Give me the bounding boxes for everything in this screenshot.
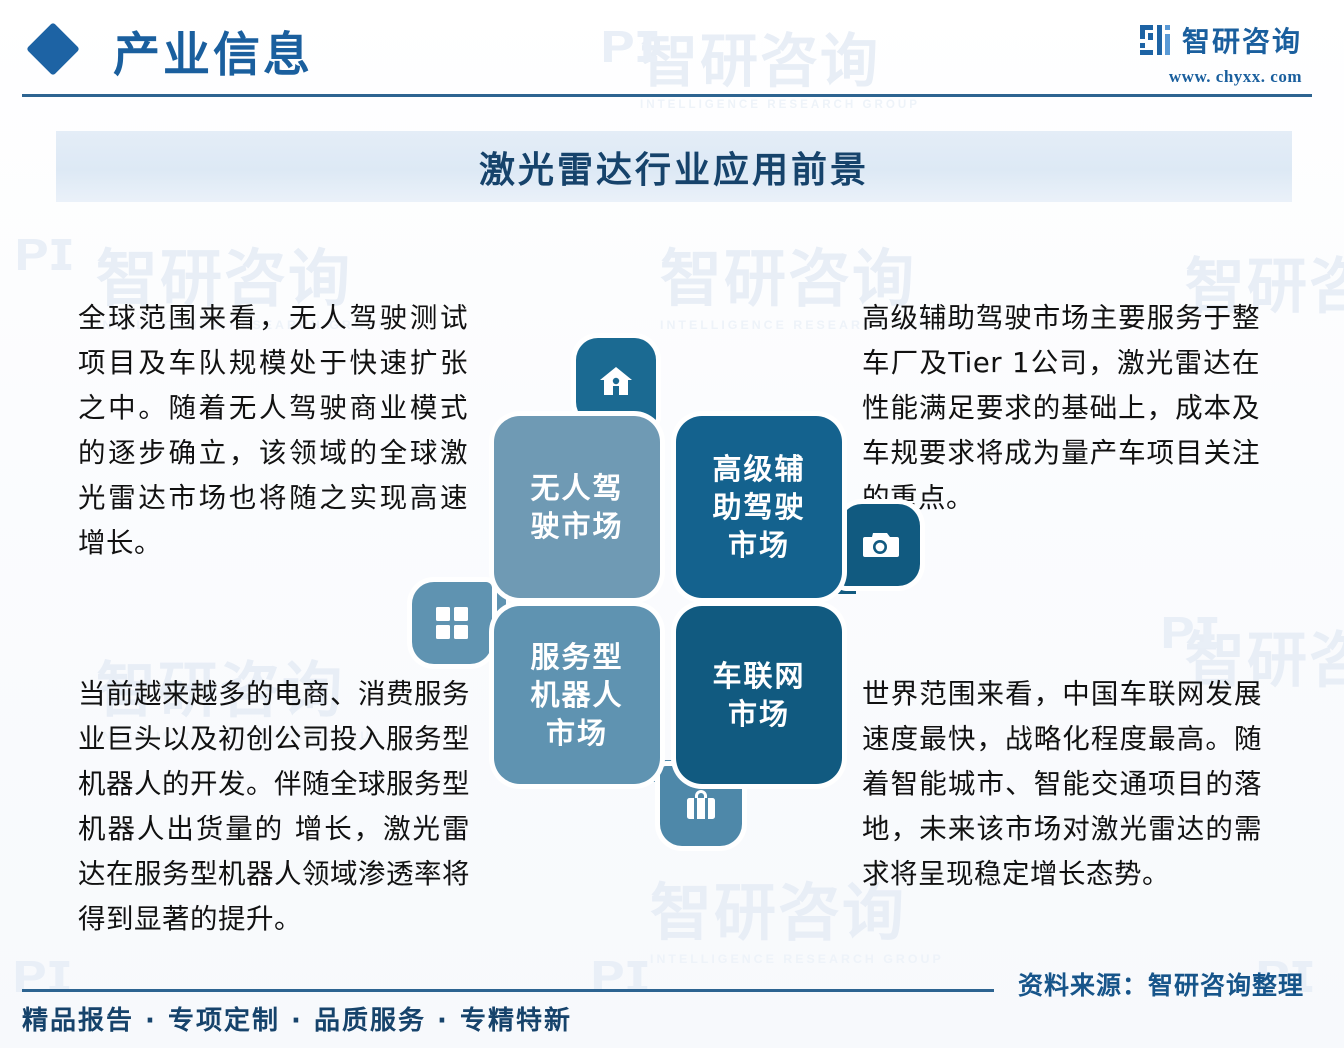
chyxx-logo-icon: [1139, 23, 1173, 57]
watermark-logo: ᴘɪ: [590, 944, 649, 1002]
watermark-logo: ᴘɪ: [14, 222, 73, 280]
tile-service-robot[interactable]: 服务型机器人市场: [494, 606, 660, 784]
brand-name: 智研咨询: [1182, 20, 1302, 60]
briefcase-icon: [683, 789, 719, 823]
page-header: Industry Information 产业信息: [0, 0, 1344, 108]
header-divider: [22, 94, 1312, 97]
tile-label: 无人驾驶市场: [524, 469, 629, 545]
brand-url: www. chyxx. com: [1139, 67, 1302, 87]
brand-block: 智研咨询 www. chyxx. com: [1139, 20, 1302, 87]
tile-label: 服务型机器人市场: [524, 638, 629, 752]
grid-icon: [435, 606, 469, 640]
header-title-cn: 产业信息: [113, 16, 313, 85]
market-diagram: 无人驾驶市场 高级辅助驾驶市场 服务型机器人市场 车联网市场: [404, 330, 924, 840]
grid-icon-box[interactable]: [412, 582, 492, 664]
tile-internet-of-vehicles[interactable]: 车联网市场: [676, 606, 842, 784]
camera-icon: [860, 529, 900, 561]
tile-adas[interactable]: 高级辅助驾驶市场: [676, 416, 842, 598]
tile-label: 车联网市场: [706, 657, 811, 733]
watermark-logo: ᴘɪ: [12, 944, 71, 1002]
camera-icon-box[interactable]: [840, 504, 920, 586]
page-root: ᴘɪ 智研咨询INTELLIGENCE RESEARCH GROUP 智研咨询I…: [0, 0, 1344, 1048]
watermark-logo: ᴘɪ: [1160, 600, 1219, 658]
source-note: 资料来源：智研咨询整理: [1018, 966, 1304, 1002]
diamond-icon: [26, 22, 80, 76]
home-icon-box[interactable]: [576, 338, 656, 424]
tile-autonomous-driving[interactable]: 无人驾驶市场: [494, 416, 660, 598]
footer-slogan: 精品报告 · 专项定制 · 品质服务 · 专精特新: [22, 1000, 572, 1037]
home-icon: [598, 364, 634, 398]
footer-divider: [22, 989, 994, 992]
tile-label: 高级辅助驾驶市场: [706, 450, 811, 564]
page-title: 激光雷达行业应用前景: [479, 141, 869, 193]
title-banner: 激光雷达行业应用前景: [56, 131, 1292, 202]
